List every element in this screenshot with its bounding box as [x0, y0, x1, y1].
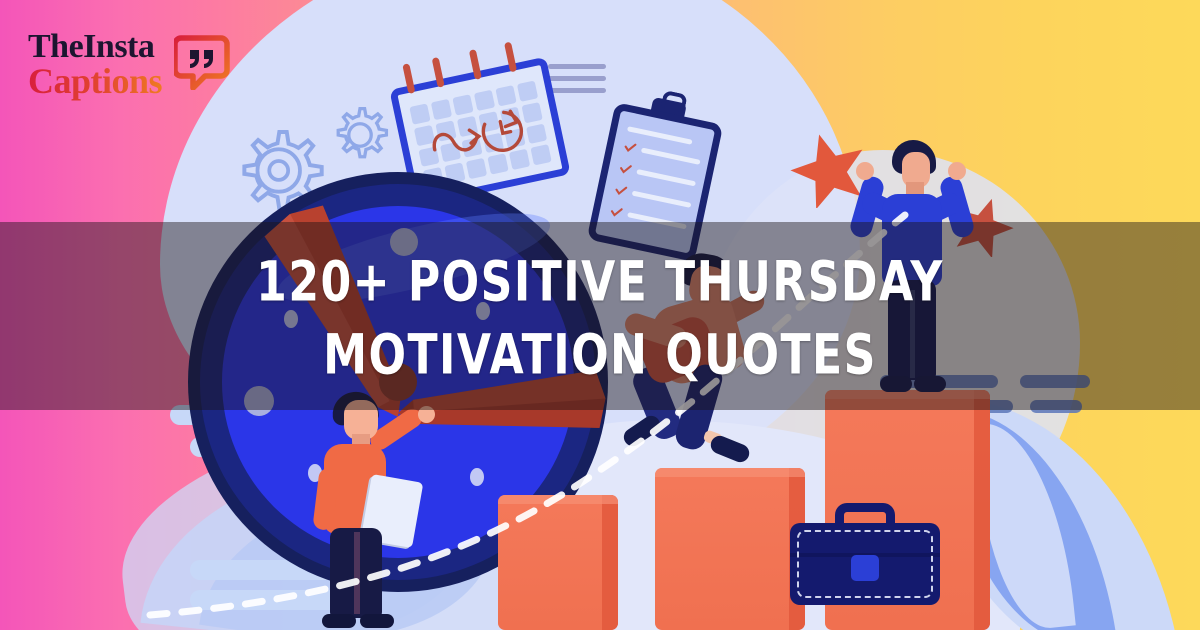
brand-logo[interactable]: TheInsta Captions [28, 28, 238, 100]
person-holding-clipboard [300, 392, 410, 630]
gear-icon-small [327, 102, 393, 168]
check-icon [609, 204, 624, 219]
briefcase [790, 505, 940, 605]
clipboard-item-line [636, 169, 696, 186]
clipboard-item-line [641, 148, 701, 165]
check-icon [618, 161, 633, 176]
person1-shoe-left [322, 614, 356, 628]
person2-shoe-front [708, 433, 752, 465]
bar-chart-step-2 [655, 468, 805, 630]
bar-side-edge [974, 390, 990, 630]
check-icon [622, 140, 637, 155]
person1-leg-split [354, 532, 360, 614]
person3-right-fist [948, 162, 966, 180]
clipboard-item-line [632, 191, 692, 208]
bar-side-edge [602, 495, 618, 630]
quote-speech-bubble-icon [174, 34, 232, 90]
bar-face [655, 468, 805, 630]
brand-logo-line-2: Captions [28, 60, 162, 102]
person3-left-fist [856, 162, 874, 180]
bar-face [498, 495, 618, 630]
check-icon [613, 183, 628, 198]
cover-image: 120+ POSITIVE THURSDAY MOTIVATION QUOTES… [0, 0, 1200, 630]
page-title: 120+ POSITIVE THURSDAY MOTIVATION QUOTES [36, 246, 1164, 392]
page-title-line-1: 120+ POSITIVE THURSDAY [36, 246, 1164, 319]
motion-line-1 [548, 64, 606, 69]
briefcase-lock-icon [851, 555, 879, 581]
page-title-line-2: MOTIVATION QUOTES [36, 319, 1164, 392]
clock-marker [470, 468, 484, 486]
person1-shoe-right [360, 614, 394, 628]
bar-chart-step-1 [498, 495, 618, 630]
bar-top-edge [498, 495, 618, 504]
